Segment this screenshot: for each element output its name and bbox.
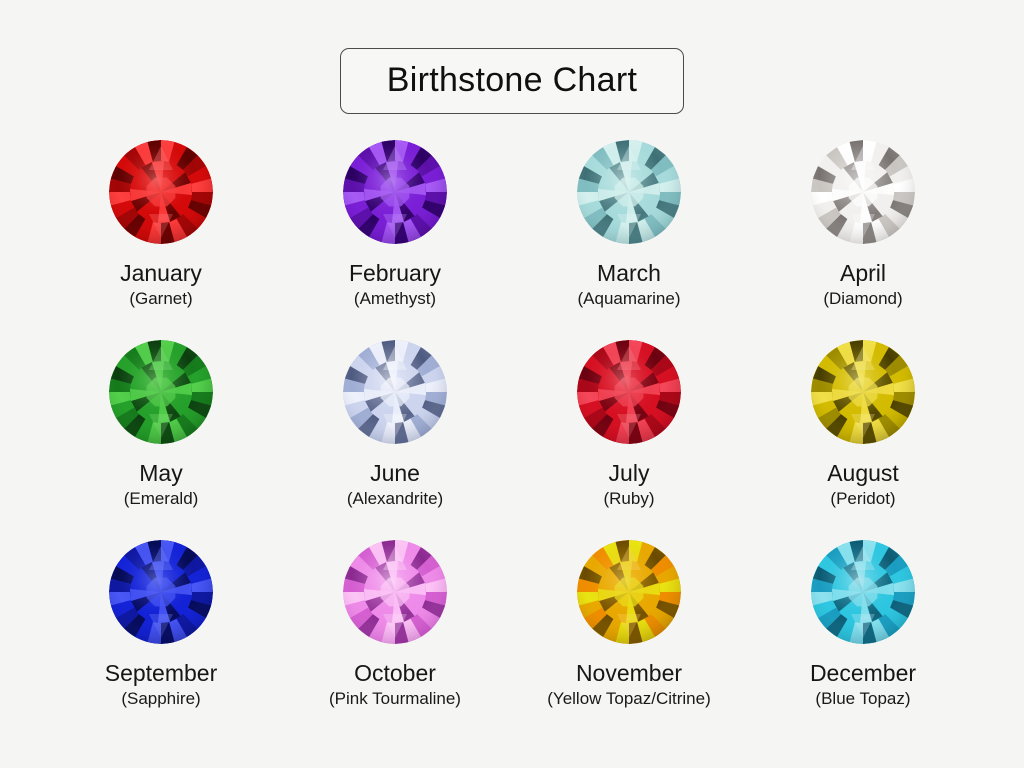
month-label: February: [349, 261, 441, 285]
gem-emerald: [109, 340, 213, 444]
gem-blue-topaz: [811, 540, 915, 644]
stone-label: (Diamond): [823, 290, 902, 308]
gem-alexandrite: [343, 340, 447, 444]
birthstone-cell: February(Amethyst): [278, 140, 512, 340]
birthstone-cell: September(Sapphire): [44, 540, 278, 740]
birthstone-cell: June(Alexandrite): [278, 340, 512, 540]
birthstone-cell: November(Yellow Topaz/Citrine): [512, 540, 746, 740]
month-label: April: [840, 261, 886, 285]
stone-label: (Sapphire): [121, 690, 200, 708]
birthstone-cell: July(Ruby): [512, 340, 746, 540]
month-label: May: [139, 461, 182, 485]
birthstone-cell: October(Pink Tourmaline): [278, 540, 512, 740]
month-label: September: [105, 661, 218, 685]
birthstone-cell: March(Aquamarine): [512, 140, 746, 340]
stone-label: (Garnet): [129, 290, 192, 308]
month-label: January: [120, 261, 202, 285]
gem-garnet: [109, 140, 213, 244]
month-label: July: [609, 461, 650, 485]
month-label: March: [597, 261, 661, 285]
gem-peridot: [811, 340, 915, 444]
gem-pink-tourmaline: [343, 540, 447, 644]
stone-label: (Alexandrite): [347, 490, 443, 508]
stone-label: (Ruby): [603, 490, 654, 508]
stone-label: (Peridot): [830, 490, 895, 508]
title-box: Birthstone Chart: [340, 48, 684, 114]
birthstone-cell: April(Diamond): [746, 140, 980, 340]
page-title: Birthstone Chart: [387, 63, 637, 97]
birthstone-cell: December(Blue Topaz): [746, 540, 980, 740]
gem-ruby: [577, 340, 681, 444]
month-label: October: [354, 661, 436, 685]
birthstone-grid: January(Garnet)February(Amethyst)March(A…: [44, 140, 980, 740]
stone-label: (Aquamarine): [578, 290, 681, 308]
month-label: November: [576, 661, 682, 685]
gem-yellow-topaz-citrine: [577, 540, 681, 644]
stone-label: (Emerald): [124, 490, 199, 508]
gem-amethyst: [343, 140, 447, 244]
birthstone-cell: May(Emerald): [44, 340, 278, 540]
month-label: June: [370, 461, 420, 485]
month-label: December: [810, 661, 916, 685]
birthstone-cell: January(Garnet): [44, 140, 278, 340]
gem-aquamarine: [577, 140, 681, 244]
stone-label: (Blue Topaz): [815, 690, 910, 708]
birthstone-cell: August(Peridot): [746, 340, 980, 540]
stone-label: (Yellow Topaz/Citrine): [547, 690, 710, 708]
gem-sapphire: [109, 540, 213, 644]
gem-diamond: [811, 140, 915, 244]
title-container: Birthstone Chart: [0, 48, 1024, 114]
stone-label: (Pink Tourmaline): [329, 690, 461, 708]
stone-label: (Amethyst): [354, 290, 436, 308]
month-label: August: [827, 461, 899, 485]
